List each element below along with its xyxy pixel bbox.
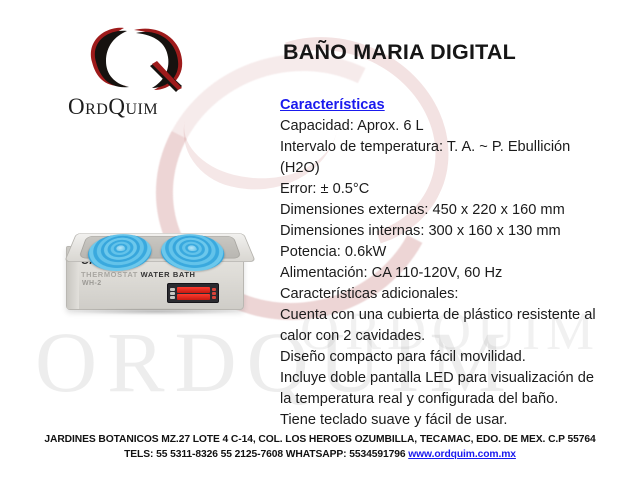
spec-item: la temperatura real y configurada del ba… (280, 389, 638, 410)
control-panel-indicators (212, 288, 216, 299)
product-shadow (72, 308, 240, 315)
footer-address: JARDINES BOTANICOS MZ.27 LOTE 4 C-14, CO… (0, 432, 640, 447)
spec-item: Dimensiones externas: 450 x 220 x 160 mm (280, 200, 638, 221)
footer-contact: TELS: 55 5311-8326 55 2125-7608 WHATSAPP… (0, 447, 640, 462)
water-bath-top-surface (64, 233, 256, 262)
control-panel (167, 283, 219, 303)
spec-item: Incluye doble pantalla LED para visualiz… (280, 368, 638, 389)
product-photo: CIVEQ THERMOSTAT WATER BATH WH-2 (58, 198, 263, 323)
spec-heading: Características (280, 95, 638, 116)
spec-item: Alimentación: CA 110-120V, 60 Hz (280, 263, 638, 284)
spec-item: Capacidad: Aprox. 6 L (280, 116, 638, 137)
footer-phones: TELS: 55 5311-8326 55 2125-7608 WHATSAPP… (124, 449, 408, 460)
ordquim-monogram-icon (72, 22, 222, 94)
lid-knob-left (116, 247, 125, 251)
website-link[interactable]: www.ordquim.com.mx (408, 449, 516, 460)
led-display (177, 287, 210, 300)
footer: JARDINES BOTANICOS MZ.27 LOTE 4 C-14, CO… (0, 432, 640, 462)
spec-item: (H2O) (280, 158, 638, 179)
control-panel-buttons (170, 288, 175, 299)
spec-item: Características adicionales: (280, 284, 638, 305)
spec-heading-label: Características (280, 95, 385, 116)
spec-item: Tiene teclado suave y fácil de usar. (280, 410, 638, 431)
spec-item: Error: ± 0.5°C (280, 179, 638, 200)
spec-item: Potencia: 0.6kW (280, 242, 638, 263)
product-type-faded: THERMOSTAT (81, 270, 141, 279)
spec-item: Diseño compacto para fácil movilidad. (280, 347, 638, 368)
specification-list: Características Capacidad: Aprox. 6 L In… (280, 95, 638, 431)
datasheet-page: ORDQUIM ORDQUIM OrdQuim CIVEQ THERMOSTAT… (0, 0, 640, 480)
lid-knob-right (188, 247, 197, 251)
product-details: BAÑO MARIA DIGITAL Características Capac… (280, 40, 638, 431)
spec-item: Cuenta con una cubierta de plástico resi… (280, 305, 638, 326)
product-type-label: THERMOSTAT WATER BATH (81, 270, 196, 279)
company-logo: OrdQuim (62, 22, 237, 122)
product-type-dark: WATER BATH (141, 270, 196, 279)
product-model-label: WH-2 (82, 280, 102, 287)
page-title: BAÑO MARIA DIGITAL (283, 40, 638, 65)
company-wordmark: OrdQuim (68, 94, 158, 120)
spec-item: calor con 2 cavidades. (280, 326, 638, 347)
spec-item: Dimensiones internas: 300 x 160 x 130 mm (280, 221, 638, 242)
spec-item: Intervalo de temperatura: T. A. ~ P. Ebu… (280, 137, 638, 158)
